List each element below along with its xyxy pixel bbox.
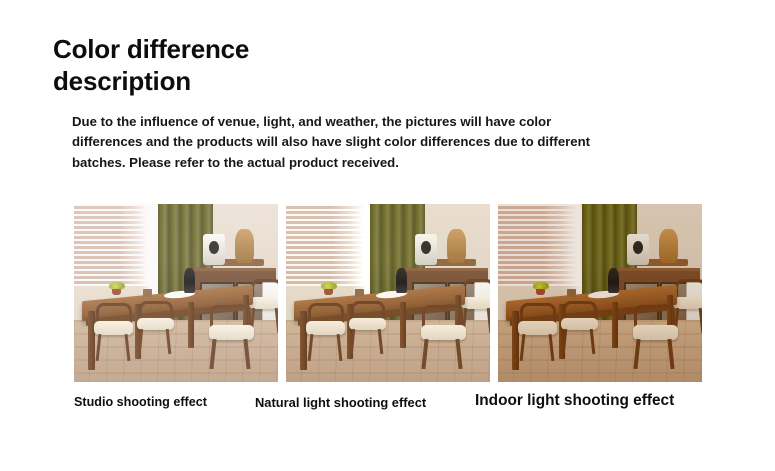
gallery-image-natural-light[interactable] <box>286 204 490 382</box>
caption-studio-shooting-effect: Studio shooting effect <box>74 395 207 409</box>
coffee-machine <box>627 234 649 264</box>
dining-chair <box>94 321 133 360</box>
teddy-bear-decor <box>659 229 677 263</box>
teddy-bear-decor <box>447 229 465 263</box>
product-image-gallery <box>74 204 704 382</box>
potted-plant <box>321 282 337 294</box>
dining-chair <box>673 297 702 333</box>
dining-chair <box>209 325 254 368</box>
potted-plant <box>109 282 125 294</box>
dining-room-scene <box>74 204 278 382</box>
cup <box>143 289 151 297</box>
dining-chair <box>349 318 386 354</box>
dining-room-scene <box>286 204 490 382</box>
table-leg <box>400 302 406 348</box>
potted-plant <box>533 282 549 294</box>
coffee-grinder <box>608 268 619 293</box>
dining-room-scene <box>498 204 702 382</box>
dining-chair <box>306 321 345 360</box>
dining-chair <box>137 318 174 354</box>
dining-chair <box>461 297 490 333</box>
page-title: Color difference description <box>53 33 473 97</box>
dining-chair <box>561 318 598 354</box>
gallery-captions: Studio shooting effect Natural light sho… <box>74 392 704 418</box>
dining-chair <box>421 325 466 368</box>
dining-chair <box>249 297 278 333</box>
cup <box>567 289 575 297</box>
cup <box>355 289 363 297</box>
color-difference-disclaimer: Due to the influence of venue, light, an… <box>72 112 612 173</box>
table-leg <box>188 302 194 348</box>
coffee-machine <box>415 234 437 264</box>
coffee-grinder <box>184 268 195 293</box>
gallery-image-indoor-light[interactable] <box>498 204 702 382</box>
coffee-machine <box>203 234 225 264</box>
caption-indoor-light-shooting-effect: Indoor light shooting effect <box>475 392 674 410</box>
dining-chair <box>633 325 678 368</box>
caption-natural-light-shooting-effect: Natural light shooting effect <box>255 395 426 410</box>
dining-chair <box>518 321 557 360</box>
coffee-grinder <box>396 268 407 293</box>
gallery-image-studio[interactable] <box>74 204 278 382</box>
teddy-bear-decor <box>235 229 253 263</box>
table-leg <box>612 302 618 348</box>
